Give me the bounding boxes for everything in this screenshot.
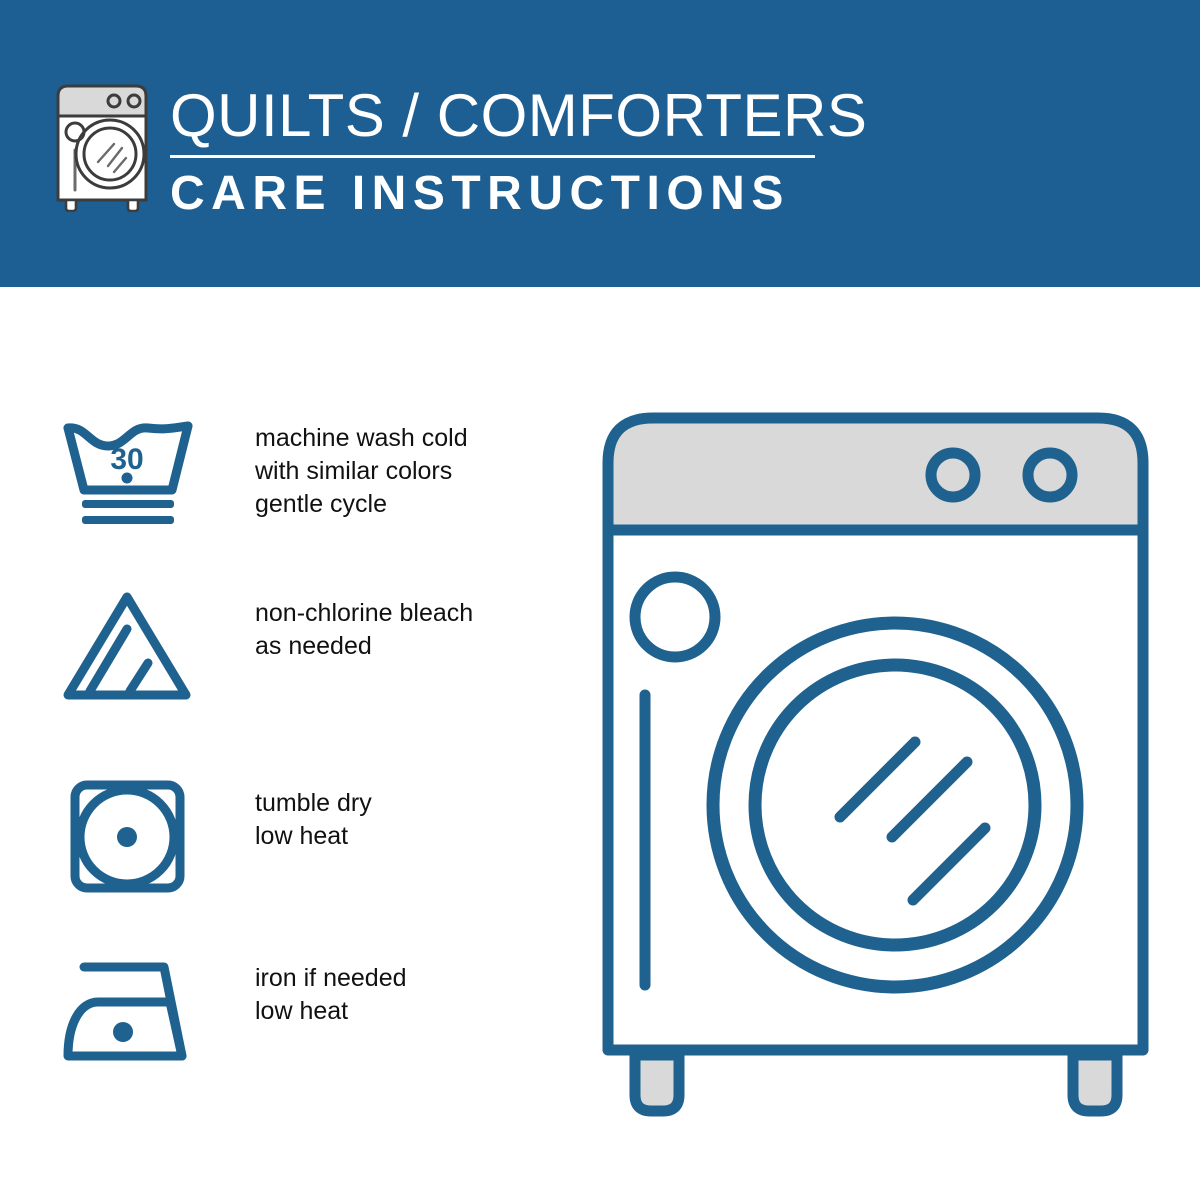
page-subtitle: CARE INSTRUCTIONS xyxy=(170,168,830,220)
care-text-line: tumble dry xyxy=(255,787,520,820)
care-instruction-list: 30 machine wash cold with similar colors… xyxy=(0,287,560,1200)
care-text-line: non-chlorine bleach xyxy=(255,597,520,630)
care-text-machine-wash: machine wash cold with similar colors ge… xyxy=(255,422,520,521)
title-divider xyxy=(170,155,815,158)
front-load-washing-machine-illustration xyxy=(595,405,1155,1125)
care-text-line: low heat xyxy=(255,820,520,853)
header-banner: QUILTS / COMFORTERS CARE INSTRUCTIONS xyxy=(0,0,1200,287)
header-title-block: QUILTS / COMFORTERS CARE INSTRUCTIONS xyxy=(170,85,830,220)
washing-machine-icon xyxy=(52,78,156,212)
care-row-machine-wash: 30 machine wash cold with similar colors… xyxy=(0,412,520,542)
machine-leg xyxy=(635,1055,679,1111)
care-text-line: gentle cycle xyxy=(255,488,520,521)
wash-tub-30-gentle-icon: 30 xyxy=(60,412,195,532)
care-text-line: machine wash cold xyxy=(255,422,520,455)
care-text-bleach: non-chlorine bleach as needed xyxy=(255,597,520,663)
care-text-tumble-dry: tumble dry low heat xyxy=(255,787,520,853)
wash-temperature-label: 30 xyxy=(110,443,143,476)
iron-low-heat-icon xyxy=(60,952,195,1072)
care-row-iron: iron if needed low heat xyxy=(0,952,520,1082)
care-text-line: with similar colors xyxy=(255,455,520,488)
page-title: QUILTS / COMFORTERS xyxy=(170,85,830,147)
tumble-dry-low-heat-icon xyxy=(60,777,195,897)
care-text-line: low heat xyxy=(255,995,520,1028)
care-text-iron: iron if needed low heat xyxy=(255,962,520,1028)
care-instructions-infographic: QUILTS / COMFORTERS CARE INSTRUCTIONS xyxy=(0,0,1200,1200)
machine-control-panel xyxy=(608,418,1143,530)
care-text-line: as needed xyxy=(255,630,520,663)
care-row-tumble-dry: tumble dry low heat xyxy=(0,777,520,907)
care-text-line: iron if needed xyxy=(255,962,520,995)
care-row-bleach: non-chlorine bleach as needed xyxy=(0,587,520,717)
non-chlorine-bleach-triangle-icon xyxy=(60,587,195,707)
machine-leg xyxy=(1073,1055,1117,1111)
